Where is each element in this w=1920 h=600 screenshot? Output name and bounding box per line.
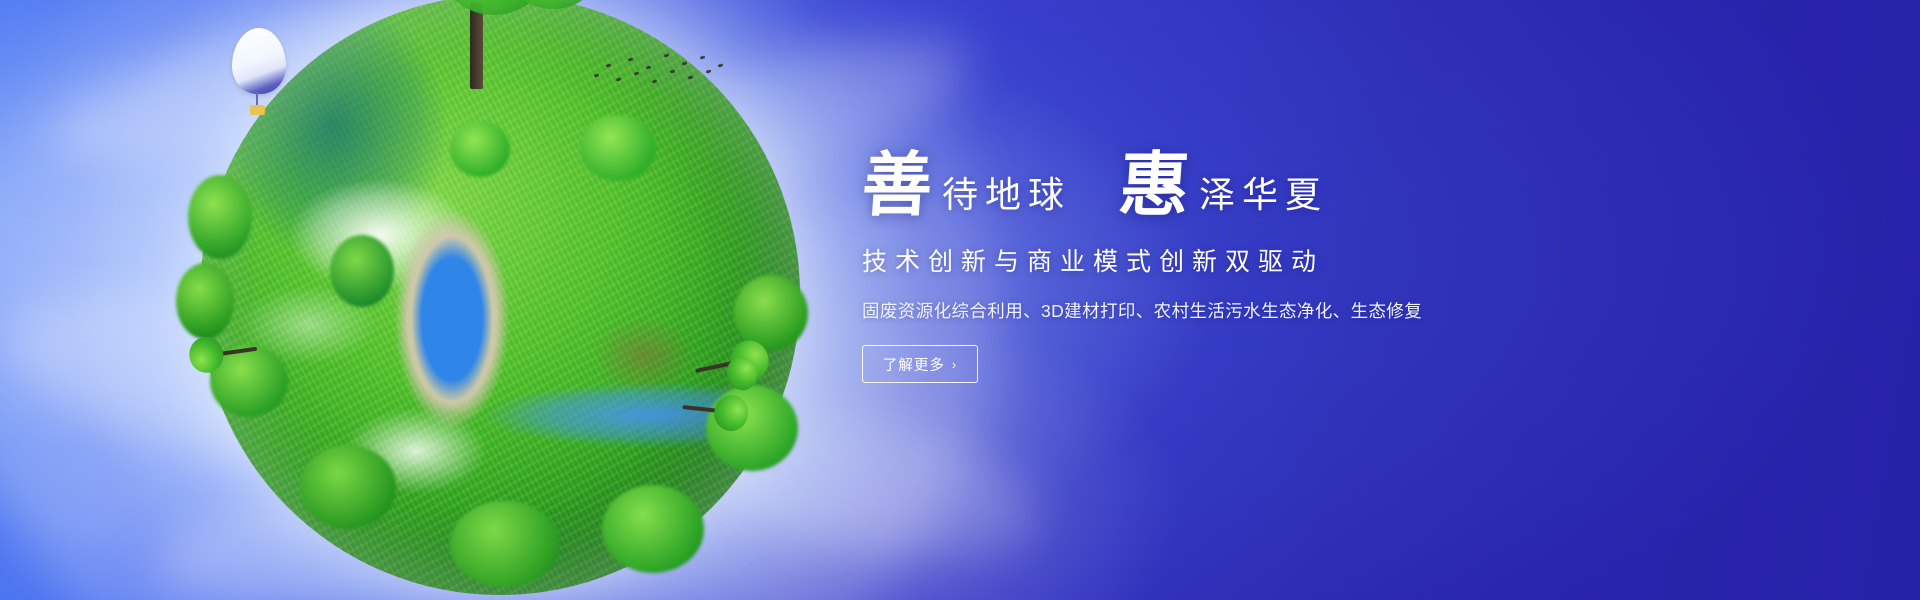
bird-icon <box>594 73 600 77</box>
hero-content: 善 待地球 惠 泽华夏 技术创新与商业模式创新双驱动 固废资源化综合利用、3D建… <box>862 138 1762 383</box>
balloon-rope <box>256 92 258 106</box>
headline-big-char-two: 惠 <box>1117 152 1192 222</box>
tree-cluster <box>330 235 394 307</box>
hero-subtitle: 技术创新与商业模式创新双驱动 <box>862 242 1762 278</box>
bird-icon <box>652 79 658 83</box>
tree-cluster <box>450 501 560 587</box>
learn-more-label: 了解更多 <box>883 354 945 375</box>
tree-cluster <box>734 275 808 351</box>
bird-icon <box>606 63 612 67</box>
hot-air-balloon <box>232 28 286 120</box>
bird-icon <box>700 55 706 59</box>
headline-group-two: 惠 泽华夏 <box>1119 152 1328 222</box>
hero-description: 固废资源化综合利用、3D建材打印、农村生活污水生态净化、生态修复 <box>862 298 1762 323</box>
tree-cluster <box>706 385 798 471</box>
tree-cluster <box>300 445 396 529</box>
balloon-basket <box>250 105 265 115</box>
balloon-envelope <box>232 28 286 94</box>
tree-cluster <box>188 175 252 259</box>
hero-headline: 善 待地球 惠 泽华夏 <box>862 138 1762 222</box>
bird-icon <box>688 75 694 79</box>
bird-icon <box>718 63 724 67</box>
tree-cluster <box>176 263 234 339</box>
bird-icon <box>664 53 670 57</box>
tree-cluster <box>580 115 656 181</box>
headline-small-text-two: 泽华夏 <box>1199 177 1328 222</box>
headline-group-one: 善 待地球 <box>862 152 1071 222</box>
bird-icon <box>670 69 676 73</box>
headline-big-char-one: 善 <box>860 152 935 222</box>
tree-cluster <box>602 485 704 573</box>
bird-icon <box>628 57 634 61</box>
learn-more-button[interactable]: 了解更多 › <box>862 345 978 383</box>
bird-icon <box>616 77 622 81</box>
bird-flock <box>590 46 730 94</box>
bird-icon <box>634 71 640 75</box>
bird-icon <box>646 65 652 69</box>
headline-small-text-one: 待地球 <box>942 177 1071 222</box>
bird-icon <box>706 69 712 73</box>
hero-banner: 善 待地球 惠 泽华夏 技术创新与商业模式创新双驱动 固废资源化综合利用、3D建… <box>0 0 1920 600</box>
bird-icon <box>682 61 688 65</box>
chevron-right-icon: › <box>952 358 957 371</box>
tree-cluster <box>450 121 510 177</box>
